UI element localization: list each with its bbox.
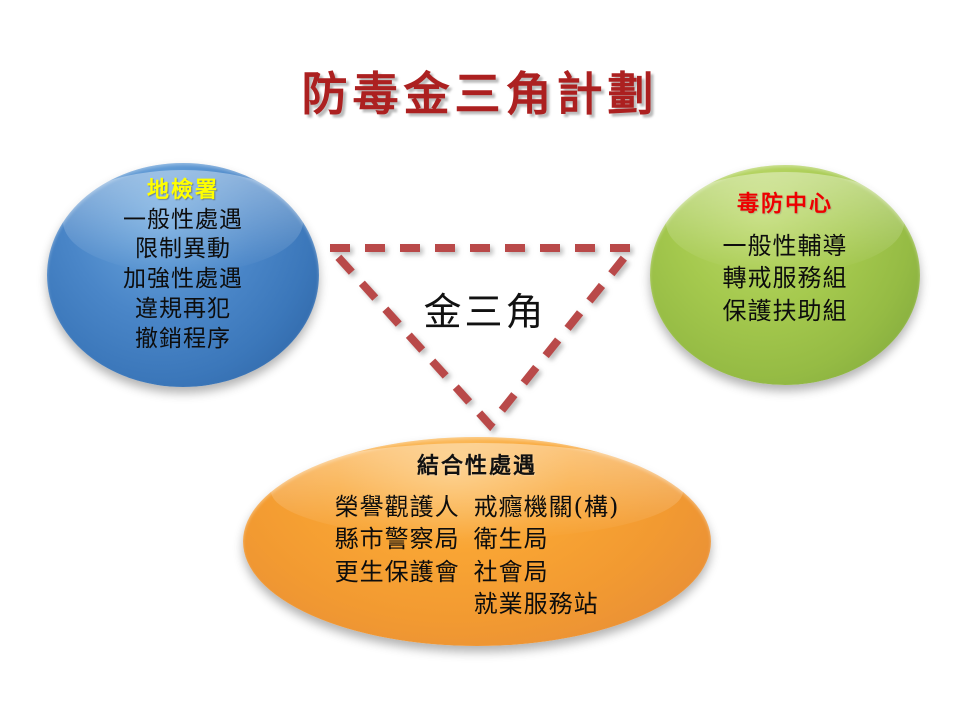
list-item: 加強性處遇 [123, 265, 243, 295]
page-title: 防毒金三角計劃 [0, 58, 960, 124]
list-item: 戒癮機關(構) [474, 491, 620, 524]
node-drug-center-items: 一般性輔導 轉戒服務組 保護扶助組 [723, 230, 848, 328]
node-drug-prevention-center[interactable]: 毒防中心 一般性輔導 轉戒服務組 保護扶助組 [650, 165, 920, 385]
list-item: 就業服務站 [474, 588, 620, 621]
slide-canvas: 防毒金三角計劃 金三角 地檢署 一般性處遇 限制異動 加強性處遇 違規再犯 撤銷… [0, 0, 960, 720]
list-item: 更生保護會 [335, 556, 460, 589]
node-combined-column-left: 榮譽觀護人 縣市警察局 更生保護會 [335, 491, 460, 589]
node-drug-center-heading: 毒防中心 [737, 191, 833, 219]
node-prosecutors-office[interactable]: 地檢署 一般性處遇 限制異動 加強性處遇 違規再犯 撤銷程序 [47, 163, 319, 387]
list-item: 社會局 [474, 556, 620, 589]
node-prosecutors-items: 一般性處遇 限制異動 加強性處遇 違規再犯 撤銷程序 [123, 206, 243, 355]
list-item: 衛生局 [474, 523, 620, 556]
list-item: 一般性輔導 [723, 230, 848, 263]
list-item: 縣市警察局 [335, 523, 460, 556]
list-item: 違規再犯 [123, 295, 243, 325]
center-label: 金三角 [390, 281, 580, 336]
node-combined-items: 榮譽觀護人 縣市警察局 更生保護會 戒癮機關(構) 衛生局 社會局 就業服務站 [335, 491, 620, 622]
node-combined-treatment[interactable]: 結合性處遇 榮譽觀護人 縣市警察局 更生保護會 戒癮機關(構) 衛生局 社會局 … [243, 437, 711, 646]
node-prosecutors-heading: 地檢署 [147, 177, 219, 205]
triangle-outline [330, 248, 632, 425]
node-combined-column-right: 戒癮機關(構) 衛生局 社會局 就業服務站 [474, 491, 620, 622]
list-item: 撤銷程序 [123, 325, 243, 355]
list-item: 榮譽觀護人 [335, 491, 460, 524]
list-item: 一般性處遇 [123, 206, 243, 236]
list-item: 轉戒服務組 [723, 262, 848, 295]
list-item: 限制異動 [123, 235, 243, 265]
list-item: 保護扶助組 [723, 295, 848, 328]
node-combined-heading: 結合性處遇 [417, 453, 537, 481]
